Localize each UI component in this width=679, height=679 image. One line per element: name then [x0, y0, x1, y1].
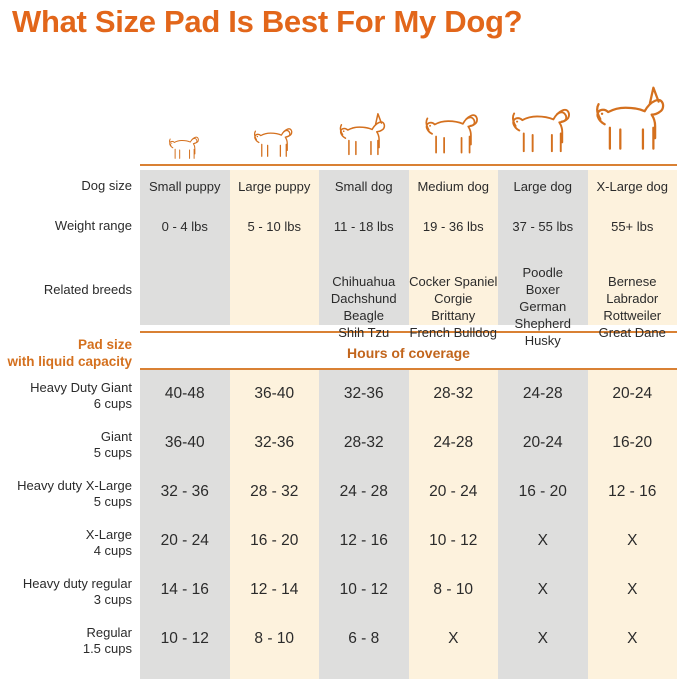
- pad-row-capacity-0: 6 cups: [0, 396, 132, 412]
- pad-cell-r5-c1: 8 - 10: [230, 629, 320, 648]
- cell-dog-size-1: Large puppy: [230, 178, 320, 195]
- pad-size-line-2: with liquid capacity: [0, 353, 132, 370]
- pad-row-name-3: X-Large: [0, 527, 132, 543]
- pad-cell-r4-c3: 8 - 10: [409, 580, 499, 599]
- dog-icon-row: [140, 78, 677, 166]
- pad-cell-r0-c3: 28-32: [409, 384, 499, 403]
- pad-row-name-0: Heavy Duty Giant: [0, 380, 132, 396]
- pad-cell-r4-c1: 12 - 14: [230, 580, 320, 599]
- pad-cell-r3-c3: 10 - 12: [409, 531, 499, 550]
- pad-cell-r3-c2: 12 - 16: [319, 531, 409, 550]
- cell-dog-size-0: Small puppy: [140, 178, 230, 195]
- dog-small-dog-icon: [319, 78, 409, 166]
- cell-weight-range-4: 37 - 55 lbs: [498, 218, 588, 235]
- column-strip-x-large-dog: [588, 170, 678, 679]
- pad-row-capacity-5: 1.5 cups: [0, 641, 132, 657]
- pad-cell-r3-c0: 20 - 24: [140, 531, 230, 550]
- cell-weight-range-0: 0 - 4 lbs: [140, 218, 230, 235]
- pad-cell-r0-c0: 40-48: [140, 384, 230, 403]
- cell-weight-range-3: 19 - 36 lbs: [409, 218, 499, 235]
- pad-cell-r1-c0: 36-40: [140, 433, 230, 452]
- page-title: What Size Pad Is Best For My Dog?: [12, 4, 672, 40]
- rule-below-hours: [140, 368, 677, 370]
- column-strip-small-puppy: [140, 170, 230, 679]
- column-strip-large-puppy: [230, 170, 320, 679]
- pad-cell-r5-c4: X: [498, 629, 588, 648]
- pad-cell-r3-c4: X: [498, 531, 588, 550]
- pad-cell-r3-c1: 16 - 20: [230, 531, 320, 550]
- pad-cell-r1-c4: 20-24: [498, 433, 588, 452]
- pad-row-capacity-2: 5 cups: [0, 494, 132, 510]
- pad-row-name-4: Heavy duty regular: [0, 576, 132, 592]
- pad-row-capacity-1: 5 cups: [0, 445, 132, 461]
- pad-cell-r4-c0: 14 - 16: [140, 580, 230, 599]
- pad-cell-r5-c0: 10 - 12: [140, 629, 230, 648]
- cell-weight-range-1: 5 - 10 lbs: [230, 218, 320, 235]
- cell-dog-size-4: Large dog: [498, 178, 588, 195]
- dog-large-puppy-icon: [230, 78, 320, 166]
- pad-cell-r2-c3: 20 - 24: [409, 482, 499, 501]
- pad-cell-r5-c5: X: [588, 629, 678, 648]
- pad-cell-r5-c3: X: [409, 629, 499, 648]
- pad-row-label-2: Heavy duty X-Large5 cups: [0, 478, 132, 510]
- dog-large-dog-icon: [498, 78, 588, 166]
- column-strip-large-dog: [498, 170, 588, 679]
- pad-cell-r4-c2: 10 - 12: [319, 580, 409, 599]
- pad-cell-r0-c1: 36-40: [230, 384, 320, 403]
- pad-cell-r0-c5: 20-24: [588, 384, 678, 403]
- cell-dog-size-5: X-Large dog: [588, 178, 678, 195]
- pad-cell-r1-c2: 28-32: [319, 433, 409, 452]
- pad-row-label-1: Giant5 cups: [0, 429, 132, 461]
- row-header-related-breeds: Related breeds: [0, 282, 132, 298]
- pad-row-label-5: Regular1.5 cups: [0, 625, 132, 657]
- pad-size-line-1: Pad size: [0, 336, 132, 353]
- pad-row-label-0: Heavy Duty Giant6 cups: [0, 380, 132, 412]
- pad-cell-r5-c2: 6 - 8: [319, 629, 409, 648]
- cell-weight-range-5: 55+ lbs: [588, 218, 678, 235]
- dog-medium-dog-icon: [409, 78, 499, 166]
- pad-cell-r2-c4: 16 - 20: [498, 482, 588, 501]
- pad-cell-r2-c0: 32 - 36: [140, 482, 230, 501]
- row-header-weight-range: Weight range: [0, 218, 132, 234]
- cell-weight-range-2: 11 - 18 lbs: [319, 218, 409, 235]
- pad-cell-r0-c2: 32-36: [319, 384, 409, 403]
- pad-row-capacity-3: 4 cups: [0, 543, 132, 559]
- column-strip-small-dog: [319, 170, 409, 679]
- pad-cell-r3-c5: X: [588, 531, 678, 550]
- pad-row-label-4: Heavy duty regular3 cups: [0, 576, 132, 608]
- pad-cell-r4-c4: X: [498, 580, 588, 599]
- row-header-dog-size: Dog size: [0, 178, 132, 194]
- pad-row-name-2: Heavy duty X-Large: [0, 478, 132, 494]
- cell-related-breeds-4: PoodleBoxerGermanShepherdHusky: [498, 264, 588, 349]
- pad-cell-r2-c1: 28 - 32: [230, 482, 320, 501]
- dog-xlarge-dog-icon: [588, 78, 678, 166]
- pad-cell-r4-c5: X: [588, 580, 678, 599]
- cell-dog-size-2: Small dog: [319, 178, 409, 195]
- pad-row-name-5: Regular: [0, 625, 132, 641]
- column-strip-medium-dog: [409, 170, 499, 679]
- cell-related-breeds-2: ChihuahuaDachshundBeagleShih Tzu: [319, 273, 409, 341]
- pad-row-name-1: Giant: [0, 429, 132, 445]
- pad-row-capacity-4: 3 cups: [0, 592, 132, 608]
- pad-cell-r0-c4: 24-28: [498, 384, 588, 403]
- cell-related-breeds-3: Cocker SpanielCorgieBrittanyFrench Bulld…: [409, 273, 499, 341]
- row-header-pad-size: Pad size with liquid capacity: [0, 336, 132, 370]
- hours-of-coverage-header: Hours of coverage: [140, 345, 677, 361]
- pad-cell-r2-c2: 24 - 28: [319, 482, 409, 501]
- pad-cell-r1-c1: 32-36: [230, 433, 320, 452]
- cell-related-breeds-5: BerneseLabradorRottweilerGreat Dane: [588, 273, 678, 341]
- pad-cell-r1-c3: 24-28: [409, 433, 499, 452]
- pad-row-label-3: X-Large4 cups: [0, 527, 132, 559]
- infographic-sheet: What Size Pad Is Best For My Dog?: [0, 0, 679, 679]
- pad-cell-r1-c5: 16-20: [588, 433, 678, 452]
- cell-dog-size-3: Medium dog: [409, 178, 499, 195]
- pad-cell-r2-c5: 12 - 16: [588, 482, 678, 501]
- dog-small-puppy-icon: [140, 78, 230, 166]
